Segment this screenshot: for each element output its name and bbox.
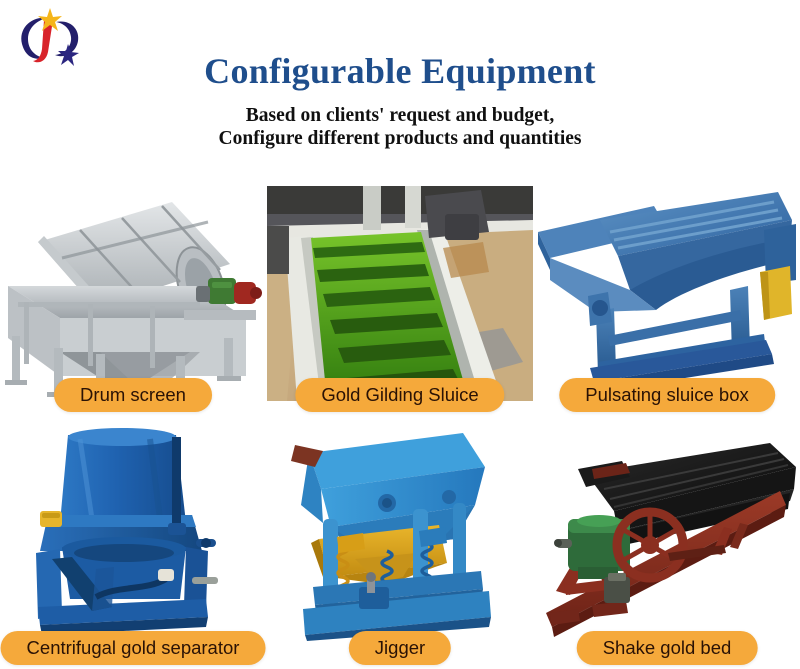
product-card-drum-screen[interactable]: Drum screen [0,186,266,426]
product-card-shake-gold-bed[interactable]: Shake gold bed [534,427,800,667]
product-label-drum-screen[interactable]: Drum screen [54,378,212,412]
subtitle-line-1: Based on clients' request and budget, [0,104,800,128]
page-subtitle: Based on clients' request and budget, Co… [0,104,800,152]
product-label-pulsating-sluice-box[interactable]: Pulsating sluice box [559,378,775,412]
centrifugal-gold-separator-icon [0,427,266,642]
product-label-centrifugal-gold-separator[interactable]: Centrifugal gold separator [1,631,266,665]
product-label-gold-gilding-sluice[interactable]: Gold Gilding Sluice [295,378,504,412]
product-grid: Drum screen [0,186,800,669]
pulsating-sluice-box-icon [534,186,800,401]
drum-screen-icon [0,186,266,401]
product-card-pulsating-sluice-box[interactable]: Pulsating sluice box [534,186,800,426]
shake-gold-bed-icon [534,427,800,642]
page-title: Configurable Equipment [0,52,800,92]
product-card-centrifugal-gold-separator[interactable]: Centrifugal gold separator [0,427,266,667]
product-label-jigger[interactable]: Jigger [349,631,451,665]
header: Configurable Equipment Based on clients'… [0,52,800,151]
product-label-shake-gold-bed[interactable]: Shake gold bed [577,631,758,665]
jigger-icon [267,427,533,642]
product-card-jigger[interactable]: Jigger [267,427,533,667]
gold-gilding-sluice-icon [267,186,533,401]
product-card-gold-gilding-sluice[interactable]: Gold Gilding Sluice [267,186,533,426]
subtitle-line-2: Configure different products and quantit… [0,127,800,151]
